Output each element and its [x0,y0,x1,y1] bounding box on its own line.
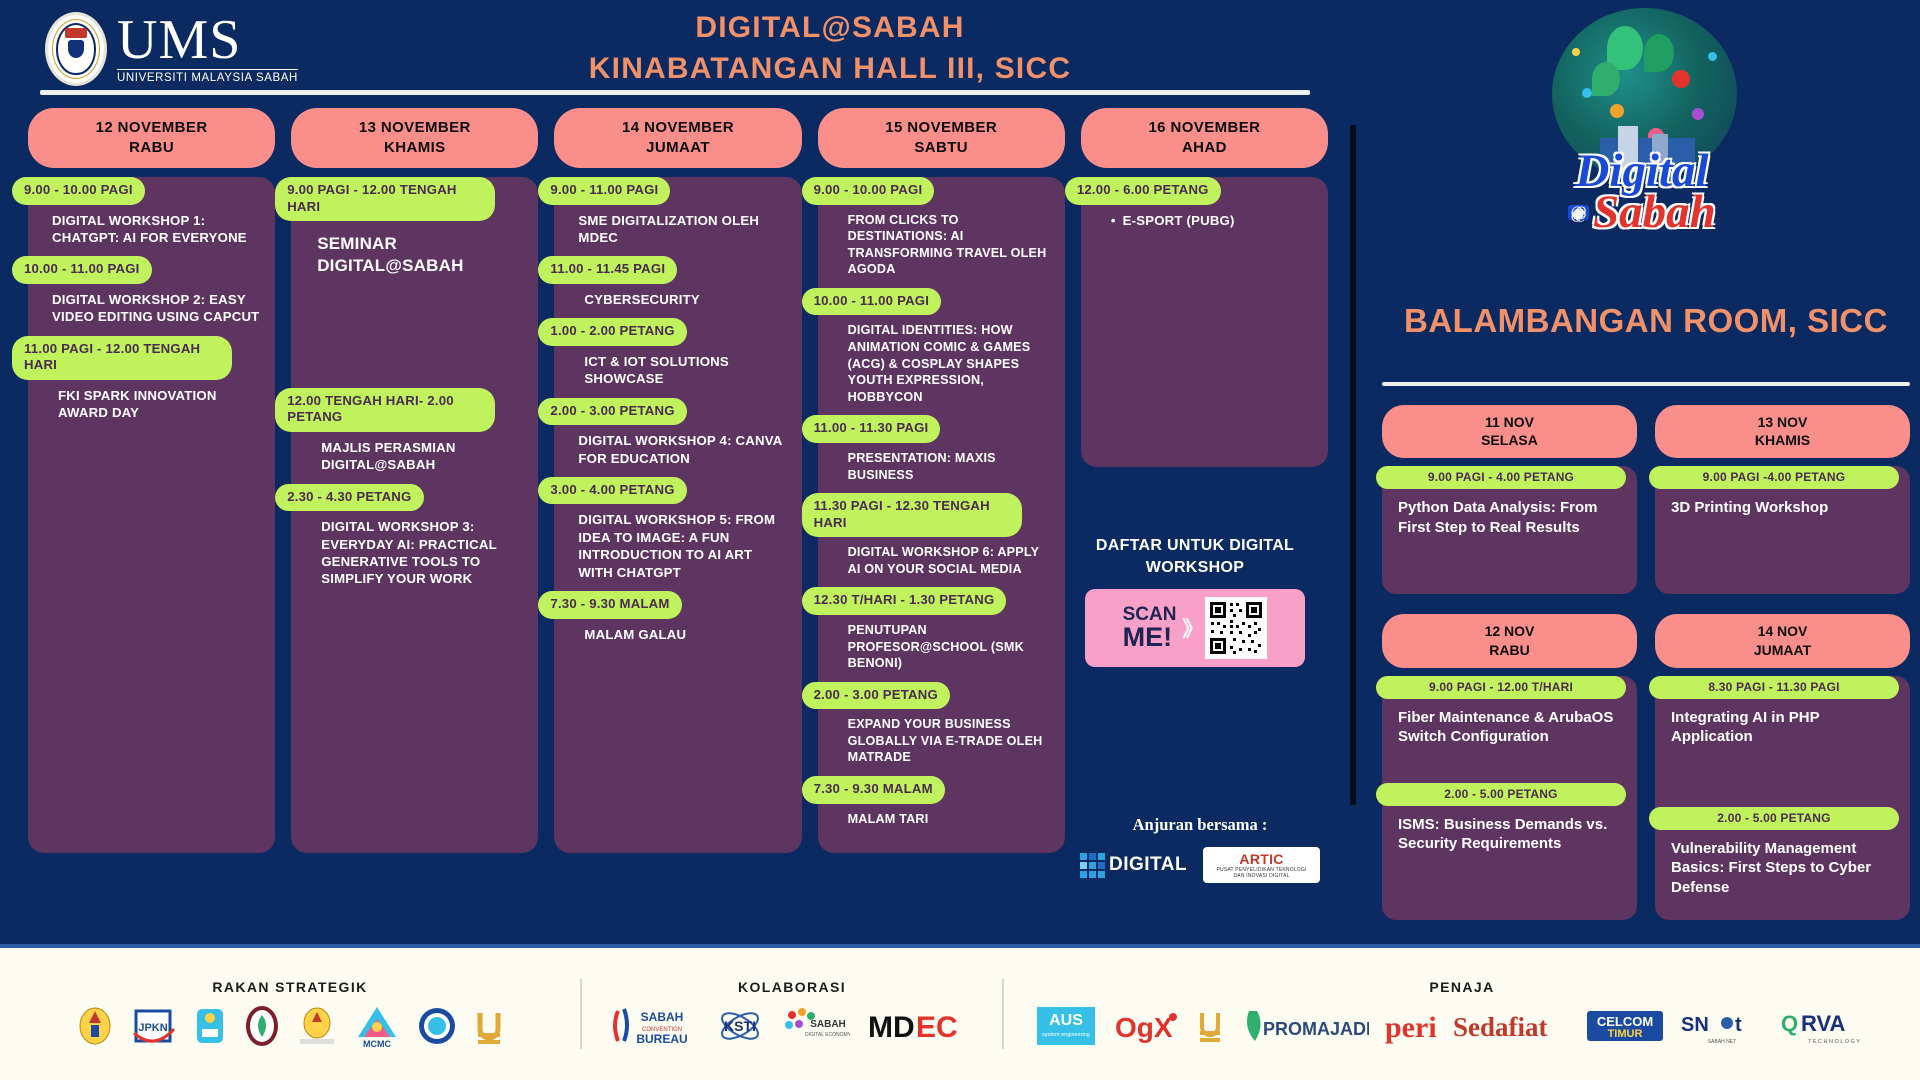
svg-text:KSTI: KSTI [724,1018,756,1034]
schedule-slot: 12.30 T/HARI - 1.30 PETANG PENUTUPAN PRO… [818,587,1065,681]
schedule-slot: 12.00 TENGAH HARI- 2.00 PETANG MAJLIS PE… [291,388,538,484]
slot-time: 12.00 - 6.00 PETANG [1065,177,1221,205]
slot-time: 3.00 - 4.00 PETANG [538,477,686,505]
slot-event: SME DIGITALIZATION OLEH MDEC [554,205,801,257]
sabah-convention-bureau-icon: SABAHCONVENTIONBUREAU [610,1003,700,1049]
room-card-date: 14 NOV [1659,622,1906,640]
room-slot-time: 2.00 - 5.00 PETANG [1649,807,1899,830]
jata-negara-icon [74,1003,116,1049]
room-card-13-nov: 13 NOV KHAMIS 9.00 PAGI -4.00 PETANG 3D … [1655,405,1910,594]
schedule-slot: 9.00 - 10.00 PAGI FROM CLICKS TO DESTINA… [818,177,1065,288]
slot-event: E-SPORT (PUBG) [1081,205,1328,239]
day-date: 14 NOVEMBER [560,118,795,138]
registration-block: DAFTAR UNTUK DIGITAL WORKSHOP SCAN ME! 》 [1085,535,1305,667]
room-card-body: 9.00 PAGI -4.00 PETANG 3D Printing Works… [1655,466,1910,594]
slot-event: FROM CLICKS TO DESTINATIONS: AI TRANSFOR… [818,205,1065,288]
svg-text:TIMUR: TIMUR [1608,1028,1643,1040]
qr-scan-card[interactable]: SCAN ME! 》 [1085,589,1305,667]
svg-text:Sedafiat: Sedafiat [1453,1012,1548,1042]
svg-text:Q: Q [1781,1011,1798,1036]
footer-label: RAKAN STRATEGIK [0,979,580,995]
artic-title: ARTIC [1211,851,1312,867]
svg-text:AUS: AUS [1049,1012,1083,1029]
room-slot-time: 9.00 PAGI - 12.00 T/HARI [1376,676,1626,699]
sedafiat-icon: Sedafiat [1451,1003,1571,1049]
svg-text:RVA: RVA [1801,1011,1846,1036]
slot-time: 2.30 - 4.30 PETANG [275,484,423,512]
ums-abbr: UMS [117,14,298,67]
schedule-slot: 11.00 - 11.45 PAGI CYBERSECURITY [554,256,801,318]
svg-text:SN: SN [1681,1014,1709,1036]
schedule-slot: 10.00 - 11.00 PAGI DIGITAL WORKSHOP 2: E… [28,256,275,335]
svg-text:CELCOM: CELCOM [1597,1014,1653,1029]
snet-icon: SNtSABAH NET [1679,1003,1765,1049]
aus-system-engineering-icon: AUSsystem engineering [1035,1003,1097,1049]
schedule-slot: 11.30 PAGI - 12.30 TENGAH HARI DIGITAL W… [818,493,1065,587]
room-card-header: 13 NOV KHAMIS [1655,405,1910,458]
slot-event: PENUTUPAN PROFESOR@SCHOOL (SMK BENONI) [818,615,1065,682]
title-line-2: KINABATANGAN HALL III, SICC [330,49,1330,90]
footer-label: KOLABORASI [582,979,1002,995]
vertical-divider [1350,125,1356,805]
room-card-body: 9.00 PAGI - 4.00 PETANG Python Data Anal… [1382,466,1637,594]
schedule-slot: 2.00 - 3.00 PETANG DIGITAL WORKSHOP 4: C… [554,398,801,477]
brand-sabah-wrap: @Sabah [1507,189,1777,236]
room-card-header: 11 NOV SELASA [1382,405,1637,458]
room-title: BALAMBANGAN ROOM, SICC [1382,300,1910,341]
mdec-icon: MDEC [864,1003,974,1049]
slot-time: 10.00 - 11.00 PAGI [12,256,152,284]
title-line-1: DIGITAL@SABAH [330,8,1330,49]
room-card-weekday: KHAMIS [1659,431,1906,449]
svg-text:DIGITAL ECONOMY: DIGITAL ECONOMY [805,1032,850,1038]
slot-time: 12.30 T/HARI - 1.30 PETANG [802,587,1007,615]
slot-event: MAJLIS PERASMIAN DIGITAL@SABAH [291,432,538,484]
day-header: 14 NOVEMBER JUMAAT [554,108,801,168]
schedule-slot: 9.00 - 11.00 PAGI SME DIGITALIZATION OLE… [554,177,801,256]
room-card-weekday: SELASA [1386,431,1633,449]
slot-event: PRESENTATION: MAXIS BUSINESS [818,443,1065,493]
schedule-slot: 10.00 - 11.00 PAGI DIGITAL IDENTITIES: H… [818,288,1065,416]
right-panel: Digital @Sabah BALAMBANGAN ROOM, SICC 11… [1372,0,1920,940]
ums-gold-mark-icon [472,1003,506,1049]
digital-sabah-partner-logo: DIGITAL [1080,853,1187,878]
day-column-16-november: 16 NOVEMBER AHAD 12.00 - 6.00 PETANG E-S… [1081,108,1328,853]
ogx-icon: OgX [1111,1003,1181,1049]
qorva-technology-icon: QRVAT E C H N O L O G Y [1779,1003,1889,1049]
peri-icon: peri [1383,1003,1437,1049]
day-body: 9.00 - 10.00 PAGI DIGITAL WORKSHOP 1: CH… [28,177,275,853]
room-slot-event: Fiber Maintenance & ArubaOS Switch Confi… [1382,699,1637,783]
schedule-slot: 11.00 - 11.30 PAGI PRESENTATION: MAXIS B… [818,415,1065,493]
footer-section-sponsors: PENAJA AUSsystem engineering OgX PROMAJA… [1004,948,1920,1080]
slot-time: 7.30 - 9.30 MALAM [538,591,681,619]
artic-subtitle: PUSAT PENYELIDIKAN TEKNOLOGI DAN INOVASI… [1211,867,1312,879]
artic-logo: ARTIC PUSAT PENYELIDIKAN TEKNOLOGI DAN I… [1203,847,1320,883]
schedule-slot: 2.00 - 3.00 PETANG EXPAND YOUR BUSINESS … [818,682,1065,776]
sabah-digital-economy-icon: SABAHDIGITAL ECONOMY [780,1003,850,1049]
slot-event: DIGITAL WORKSHOP 4: CANVA FOR EDUCATION [554,425,801,477]
schedule-slot: 1.00 - 2.00 PETANG ICT & IOT SOLUTIONS S… [554,318,801,397]
footer-section-strategic: RAKAN STRATEGIK JPKN [0,948,580,1080]
slot-event: MALAM GALAU [554,619,801,653]
svg-text:T E C H N O L O G Y: T E C H N O L O G Y [1808,1039,1860,1045]
svg-text:BUREAU: BUREAU [636,1032,687,1046]
room-card-date: 13 NOV [1659,413,1906,431]
room-slot-time: 8.30 PAGI - 11.30 PAGI [1649,676,1899,699]
room-card-body: 8.30 PAGI - 11.30 PAGI Integrating AI in… [1655,676,1910,920]
page-title: DIGITAL@SABAH KINABATANGAN HALL III, SIC… [330,8,1330,89]
svg-text:JPKN: JPKN [138,1022,167,1034]
slot-time: 7.30 - 9.30 MALAM [802,776,945,804]
room-slot-event: Vulnerability Management Basics: First S… [1655,830,1910,902]
jpkn-icon: JPKN [130,1003,178,1049]
day-header: 13 NOVEMBER KHAMIS [291,108,538,168]
slot-time: 12.00 TENGAH HARI- 2.00 PETANG [275,388,495,432]
day-weekday: KHAMIS [297,138,532,158]
slot-event: DIGITAL WORKSHOP 3: EVERYDAY AI: PRACTIC… [291,511,538,598]
slot-time: 11.30 PAGI - 12.30 TENGAH HARI [802,493,1022,537]
schedule-slot: 7.30 - 9.30 MALAM MALAM GALAU [554,591,801,653]
slot-event: DIGITAL WORKSHOP 2: EASY VIDEO EDITING U… [28,284,275,336]
slot-event: FKI SPARK INNOVATION AWARD DAY [28,380,275,432]
day-weekday: AHAD [1087,138,1322,158]
svg-text:MD: MD [868,1011,915,1044]
slot-time: 9.00 - 11.00 PAGI [538,177,670,205]
day-header: 16 NOVEMBER AHAD [1081,108,1328,168]
room-card-date: 11 NOV [1386,413,1633,431]
schedule-slot: 2.30 - 4.30 PETANG DIGITAL WORKSHOP 3: E… [291,484,538,598]
svg-text:system engineering: system engineering [1042,1032,1090,1038]
poster-header: UMS UNIVERSITI MALAYSIA SABAH DIGITAL@SA… [0,0,1345,100]
day-body: 9.00 PAGI - 12.00 TENGAH HARI SEMINAR DI… [291,177,538,853]
ums-gold-mark-icon [1195,1003,1225,1049]
svg-text:SABAH: SABAH [641,1010,684,1024]
brand-sabah-text: Sabah [1593,186,1716,238]
day-body: 9.00 - 11.00 PAGI SME DIGITALIZATION OLE… [554,177,801,853]
room-card-weekday: JUMAAT [1659,641,1906,659]
svg-text:PROMAJADI: PROMAJADI [1263,1019,1369,1039]
schedule-slot: 7.30 - 9.30 MALAM MALAM TARI [818,776,1065,837]
ums-logo: UMS UNIVERSITI MALAYSIA SABAH [45,12,298,86]
room-slot-time: 9.00 PAGI - 4.00 PETANG [1376,466,1626,489]
celcom-timur-icon: CELCOMTIMUR [1585,1003,1665,1049]
ums-seal-icon [416,1003,458,1049]
day-header: 15 NOVEMBER SABTU [818,108,1065,168]
slot-event: DIGITAL WORKSHOP 6: APPLY AI ON YOUR SOC… [818,537,1065,587]
svg-text:t: t [1735,1014,1742,1036]
digital-squares-icon [1080,853,1105,878]
svg-text:peri: peri [1385,1011,1437,1044]
brand-at-badge: @ [1568,205,1589,220]
co-organisers-block: Anjuran bersama : DIGITAL ARTIC PUSAT PE… [1080,815,1320,883]
header-divider [40,90,1310,95]
day-date: 15 NOVEMBER [824,118,1059,138]
room-card-11-nov: 11 NOV SELASA 9.00 PAGI - 4.00 PETANG Py… [1382,405,1637,594]
day-column-13-november: 13 NOVEMBER KHAMIS 9.00 PAGI - 12.00 TEN… [291,108,538,853]
room-card-weekday: RABU [1386,641,1633,659]
svg-text:MCMC: MCMC [363,1039,391,1049]
slot-event: CYBERSECURITY [554,284,801,318]
schedule-slot: 9.00 - 10.00 PAGI DIGITAL WORKSHOP 1: CH… [28,177,275,256]
ums-fullname: UNIVERSITI MALAYSIA SABAH [117,69,298,84]
day-body: 12.00 - 6.00 PETANG E-SPORT (PUBG) [1081,177,1328,467]
slot-time: 11.00 - 11.30 PAGI [802,415,941,443]
day-weekday: RABU [34,138,269,158]
room-slot-time: 2.00 - 5.00 PETANG [1376,783,1626,806]
slot-time: 10.00 - 11.00 PAGI [802,288,942,316]
slot-event: EXPAND YOUR BUSINESS GLOBALLY VIA E-TRAD… [818,709,1065,776]
mcmc-icon: MCMC [352,1003,402,1049]
slot-time: 9.00 PAGI - 12.00 TENGAH HARI [275,177,495,221]
digital-sabah-logo: Digital @Sabah [1507,8,1777,258]
room-card-date: 12 NOV [1386,622,1633,640]
day-body: 9.00 - 10.00 PAGI FROM CLICKS TO DESTINA… [818,177,1065,853]
ksti-icon: KSTI [714,1003,766,1049]
registration-title: DAFTAR UNTUK DIGITAL WORKSHOP [1085,535,1305,578]
room-slot-time: 9.00 PAGI -4.00 PETANG [1649,466,1899,489]
chevron-right-icon: 》 [1182,613,1199,643]
slot-event: DIGITAL IDENTITIES: HOW ANIMATION COMIC … [818,315,1065,415]
room-card-14-nov: 14 NOV JUMAAT 8.30 PAGI - 11.30 PAGI Int… [1655,614,1910,919]
day-date: 13 NOVEMBER [297,118,532,138]
footer-section-collaboration: KOLABORASI SABAHCONVENTIONBUREAU KSTI SA… [582,948,1002,1080]
schedule-slot: 9.00 PAGI - 12.00 TENGAH HARI SEMINAR DI… [291,177,538,388]
poster-root: UMS UNIVERSITI MALAYSIA SABAH DIGITAL@SA… [0,0,1920,1080]
schedule-slot: 11.00 PAGI - 12.00 TENGAH HARI FKI SPARK… [28,336,275,432]
footer-partners: RAKAN STRATEGIK JPKN [0,944,1920,1080]
svg-text:EC: EC [916,1011,958,1044]
room-divider [1382,382,1910,386]
day-column-12-november: 12 NOVEMBER RABU 9.00 - 10.00 PAGI DIGIT… [28,108,275,853]
slot-time: 1.00 - 2.00 PETANG [538,318,686,346]
jabatan-pendidikan-sabah-icon [296,1003,338,1049]
slot-time: 2.00 - 3.00 PETANG [802,682,950,710]
room-card-12-nov: 12 NOV RABU 9.00 PAGI - 12.00 T/HARI Fib… [1382,614,1637,919]
footer-label: PENAJA [1004,979,1920,995]
scan-label-line-2: ME! [1123,624,1177,651]
slot-time: 2.00 - 3.00 PETANG [538,398,686,426]
room-card-body: 9.00 PAGI - 12.00 T/HARI Fiber Maintenan… [1382,676,1637,920]
day-weekday: SABTU [824,138,1059,158]
slot-time: 11.00 PAGI - 12.00 TENGAH HARI [12,336,232,380]
svg-text:OgX: OgX [1115,1012,1173,1043]
sabah-state-emblem-icon [192,1003,228,1049]
day-weekday: JUMAAT [560,138,795,158]
promajadi-icon: PROMAJADI [1239,1003,1369,1049]
room-slot-event: ISMS: Business Demands vs. Security Requ… [1382,806,1637,858]
svg-text:SABAH: SABAH [810,1019,846,1030]
schedule-slot: 3.00 - 4.00 PETANG DIGITAL WORKSHOP 5: F… [554,477,801,591]
svg-text:SABAH NET: SABAH NET [1708,1039,1736,1045]
ums-crest-small-icon [242,1003,282,1049]
slot-event: DIGITAL WORKSHOP 5: FROM IDEA TO IMAGE: … [554,504,801,591]
slot-time: 11.00 - 11.45 PAGI [538,256,677,284]
schedule-slot: 12.00 - 6.00 PETANG E-SPORT (PUBG) [1081,177,1328,239]
day-column-14-november: 14 NOVEMBER JUMAAT 9.00 - 11.00 PAGI SME… [554,108,801,853]
digital-partner-label: DIGITAL [1109,854,1187,876]
slot-event: DIGITAL WORKSHOP 1: CHATGPT: AI FOR EVER… [28,205,275,257]
day-date: 16 NOVEMBER [1087,118,1322,138]
slot-event: SEMINAR DIGITAL@SABAH [291,221,538,388]
slot-event: MALAM TARI [818,804,1065,838]
ums-crest-icon [45,12,107,86]
room-slot-event: Python Data Analysis: From First Step to… [1382,489,1637,541]
room-card-header: 14 NOV JUMAAT [1655,614,1910,667]
slot-time: 9.00 - 10.00 PAGI [12,177,145,205]
co-organisers-label: Anjuran bersama : [1080,815,1320,835]
day-date: 12 NOVEMBER [34,118,269,138]
slot-event: ICT & IOT SOLUTIONS SHOWCASE [554,346,801,398]
day-column-15-november: 15 NOVEMBER SABTU 9.00 - 10.00 PAGI FROM… [818,108,1065,853]
room-slot-event: Integrating AI in PHP Application [1655,699,1910,807]
room-schedule-grid: 11 NOV SELASA 9.00 PAGI - 4.00 PETANG Py… [1382,405,1910,920]
day-header: 12 NOVEMBER RABU [28,108,275,168]
slot-time: 9.00 - 10.00 PAGI [802,177,935,205]
room-card-header: 12 NOV RABU [1382,614,1637,667]
room-slot-event: 3D Printing Workshop [1655,489,1910,522]
schedule-columns: 12 NOVEMBER RABU 9.00 - 10.00 PAGI DIGIT… [28,108,1328,853]
qr-code-icon[interactable] [1205,597,1267,659]
